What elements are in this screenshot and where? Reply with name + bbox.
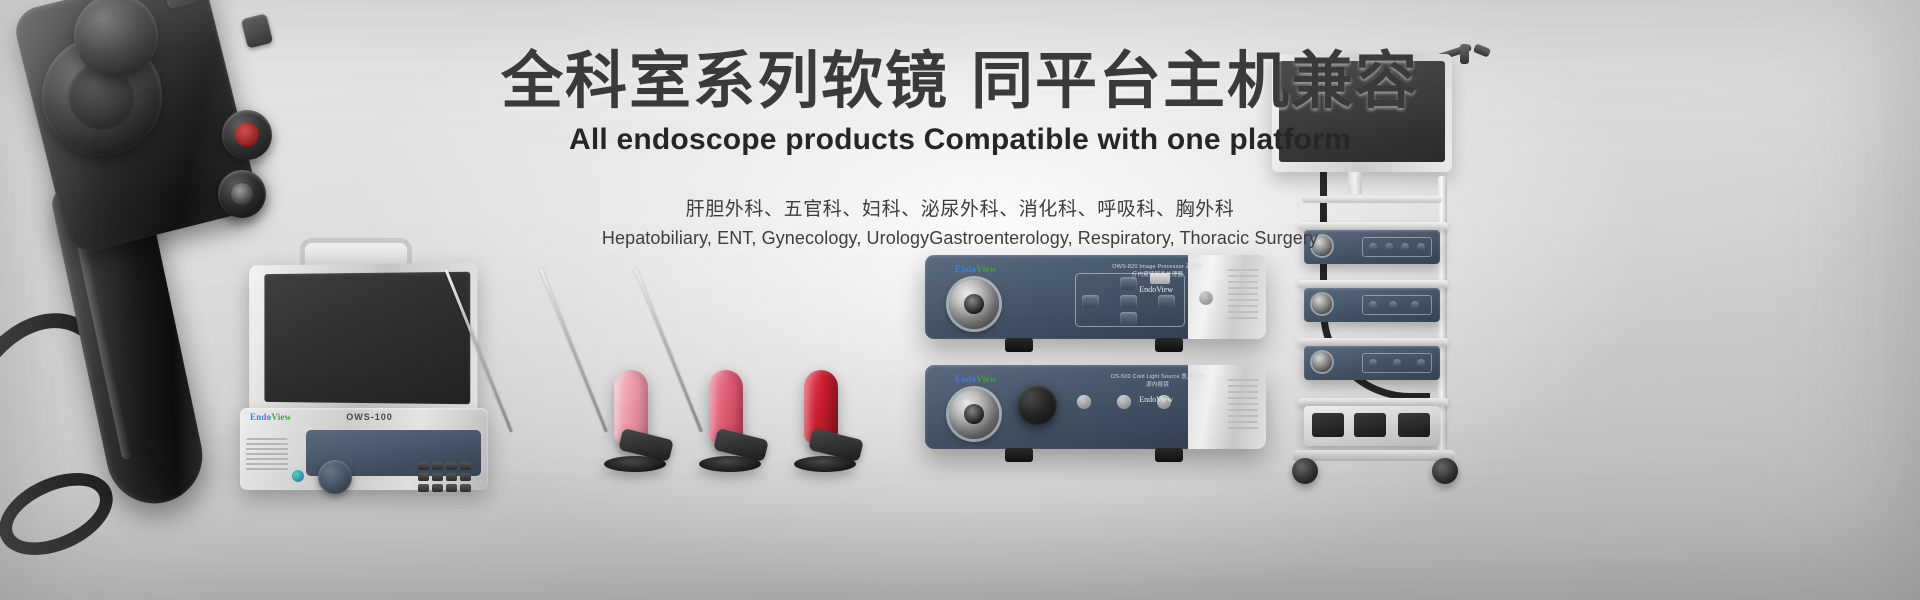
cart-shelf-4 <box>1298 398 1448 406</box>
lightsource-side-brand: EndoView <box>1139 395 1173 404</box>
cart-caster-right <box>1432 458 1458 484</box>
processor-scope-socket <box>949 279 999 329</box>
workstation-control-panel <box>306 430 481 476</box>
processor-vents <box>1228 269 1258 321</box>
processor-side-brand-top: EndoView <box>1139 285 1173 294</box>
workstation-model-label: OWS-100 <box>346 412 393 422</box>
banner-subhead: All endoscope products Compatible with o… <box>0 123 1920 157</box>
cart-shelf-3 <box>1298 338 1448 346</box>
rigid-scope-pink-image <box>600 258 710 488</box>
workstation-brand: EndoView <box>250 412 291 422</box>
cart-caster-left <box>1292 458 1318 484</box>
processor-power-button <box>1199 291 1213 305</box>
banner-headline: 全科室系列软镜同平台主机兼容 <box>0 46 1920 115</box>
cart-device-4-screen-mid <box>1354 413 1386 437</box>
cart-device-3 <box>1304 346 1440 380</box>
processor-foot-right <box>1155 338 1183 352</box>
workstation-port-indicator <box>292 470 304 482</box>
processor-foot-left <box>1005 338 1033 352</box>
processor-usb-port <box>1150 273 1170 284</box>
scope-stand-red <box>794 456 856 472</box>
processor-brand-top: EndoView <box>955 264 996 274</box>
rigid-scope-red-image <box>790 258 900 488</box>
cart-shelf-2 <box>1298 280 1448 288</box>
cart-device-4 <box>1304 406 1440 446</box>
lightsource-brightness-dial <box>1017 385 1057 425</box>
cart-device-3-panel <box>1362 353 1432 373</box>
rigid-scope-rose-image <box>695 258 805 488</box>
light-source-unit: EndoView OS-500 Cold Light Source 医用冷光源内… <box>925 365 1265 449</box>
cart-device-2-panel <box>1362 295 1432 315</box>
ows-workstation-image: EndoView OWS-100 <box>236 240 506 490</box>
lightsource-button-2 <box>1117 395 1131 409</box>
cart-base-plate <box>1292 450 1456 461</box>
lightsource-foot-left <box>1005 448 1033 462</box>
lightsource-vents <box>1228 379 1258 431</box>
workstation-monitor <box>249 262 477 415</box>
specialties-english: Hepatobiliary, ENT, Gynecology, UrologyG… <box>0 228 1920 249</box>
scope-stand-pink <box>604 456 666 472</box>
lightsource-brand: EndoView <box>955 374 996 384</box>
lightsource-model-tag: OS-500 Cold Light Source 医用冷光源内窥镜 <box>1110 372 1205 388</box>
lightsource-foot-right <box>1155 448 1183 462</box>
workstation-labels: EndoView OWS-100 <box>250 412 393 422</box>
workstation-base-unit: EndoView OWS-100 <box>240 408 488 490</box>
cart-device-3-socket <box>1312 352 1332 372</box>
workstation-keypad <box>418 462 471 492</box>
workstation-vent <box>246 438 288 472</box>
workstation-knob <box>318 460 352 494</box>
cart-device-2-socket <box>1312 294 1332 314</box>
cart-device-4-screen-right <box>1398 413 1430 437</box>
processor-stack-image: EndoView OWS-820 Image Processor 高清医疗内窥镜… <box>925 255 1270 460</box>
banner-copy: 全科室系列软镜同平台主机兼容 All endoscope products Co… <box>0 46 1920 249</box>
cart-device-2 <box>1304 288 1440 322</box>
scope-stand-rose <box>699 456 761 472</box>
headline-part-2: 同平台主机兼容 <box>971 44 1419 117</box>
specialties-chinese: 肝胆外科、五官科、妇科、泌尿外科、消化科、呼吸科、胸外科 <box>0 194 1920 221</box>
headline-part-1: 全科室系列软镜 <box>501 44 949 117</box>
lightsource-button-1 <box>1077 395 1091 409</box>
endoscope-button-lower <box>241 13 273 48</box>
cart-device-4-screen-left <box>1312 413 1344 437</box>
lightsource-scope-socket <box>949 389 999 439</box>
image-processor-unit: EndoView OWS-820 Image Processor 高清医疗内窥镜… <box>925 255 1265 339</box>
promo-banner: EndoView OWS-100 <box>0 0 1920 600</box>
